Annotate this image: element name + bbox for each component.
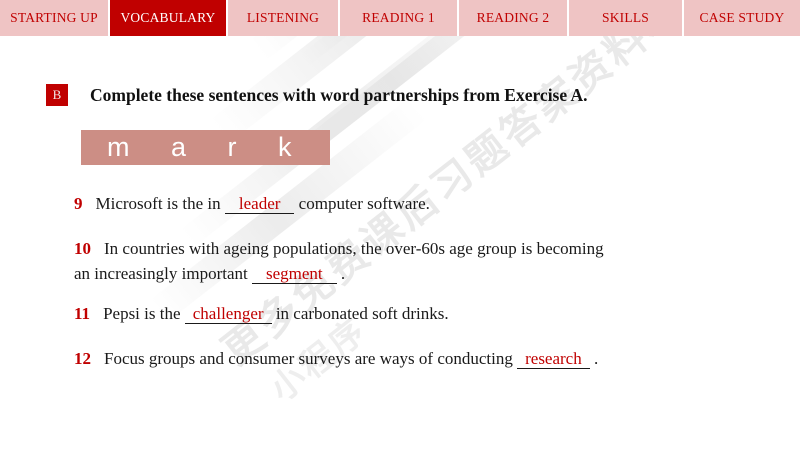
item-text-after: in carbonated soft drinks. (272, 304, 449, 323)
answer-blank-11[interactable]: challenger (185, 304, 272, 324)
animated-word-banner: m a r k e (81, 130, 330, 165)
item-text-before: Focus groups and consumer surveys are wa… (104, 349, 517, 368)
item-number: 12 (74, 349, 91, 368)
tab-vocabulary[interactable]: VOCABULARY (110, 0, 228, 36)
exercise-item-11: 11Pepsi is the challenger in carbonated … (74, 301, 774, 326)
exercise-item-12: 12Focus groups and consumer surveys are … (74, 346, 774, 371)
tab-skills[interactable]: SKILLS (569, 0, 684, 36)
exercise-item-9: 9Microsoft is the in leader computer sof… (74, 191, 774, 216)
exercise-instruction: Complete these sentences with word partn… (90, 85, 588, 106)
item-line-2: an increasingly important segment . (74, 261, 774, 286)
item-text-before: Pepsi is the (103, 304, 185, 323)
section-tab-bar: STARTING UP VOCABULARY LISTENING READING… (0, 0, 800, 36)
item-number: 9 (74, 194, 83, 213)
item-text-line2-before: an increasingly important (74, 264, 252, 283)
item-text-after: computer software. (294, 194, 429, 213)
item-number: 10 (74, 239, 91, 258)
answer-blank-10[interactable]: segment (252, 264, 337, 284)
item-text-before: Microsoft is the in (96, 194, 225, 213)
animated-word-banner-text: m a r k e (107, 130, 330, 165)
exercise-item-10: 10In countries with ageing populations, … (74, 236, 774, 286)
answer-blank-9[interactable]: leader (225, 194, 295, 214)
slide-content: B Complete these sentences with word par… (0, 36, 800, 450)
item-text-after: . (337, 264, 346, 283)
item-text-after: . (590, 349, 599, 368)
tab-case-study[interactable]: CASE STUDY (684, 0, 800, 36)
tab-reading-2[interactable]: READING 2 (459, 0, 569, 36)
tab-listening[interactable]: LISTENING (228, 0, 340, 36)
exercise-badge: B (46, 84, 68, 106)
answer-blank-12[interactable]: research (517, 349, 590, 369)
tab-starting-up[interactable]: STARTING UP (0, 0, 110, 36)
item-number: 11 (74, 304, 90, 323)
exercise-heading-row: B Complete these sentences with word par… (46, 84, 588, 106)
item-text-before: In countries with ageing populations, th… (104, 239, 604, 258)
tab-reading-1[interactable]: READING 1 (340, 0, 459, 36)
